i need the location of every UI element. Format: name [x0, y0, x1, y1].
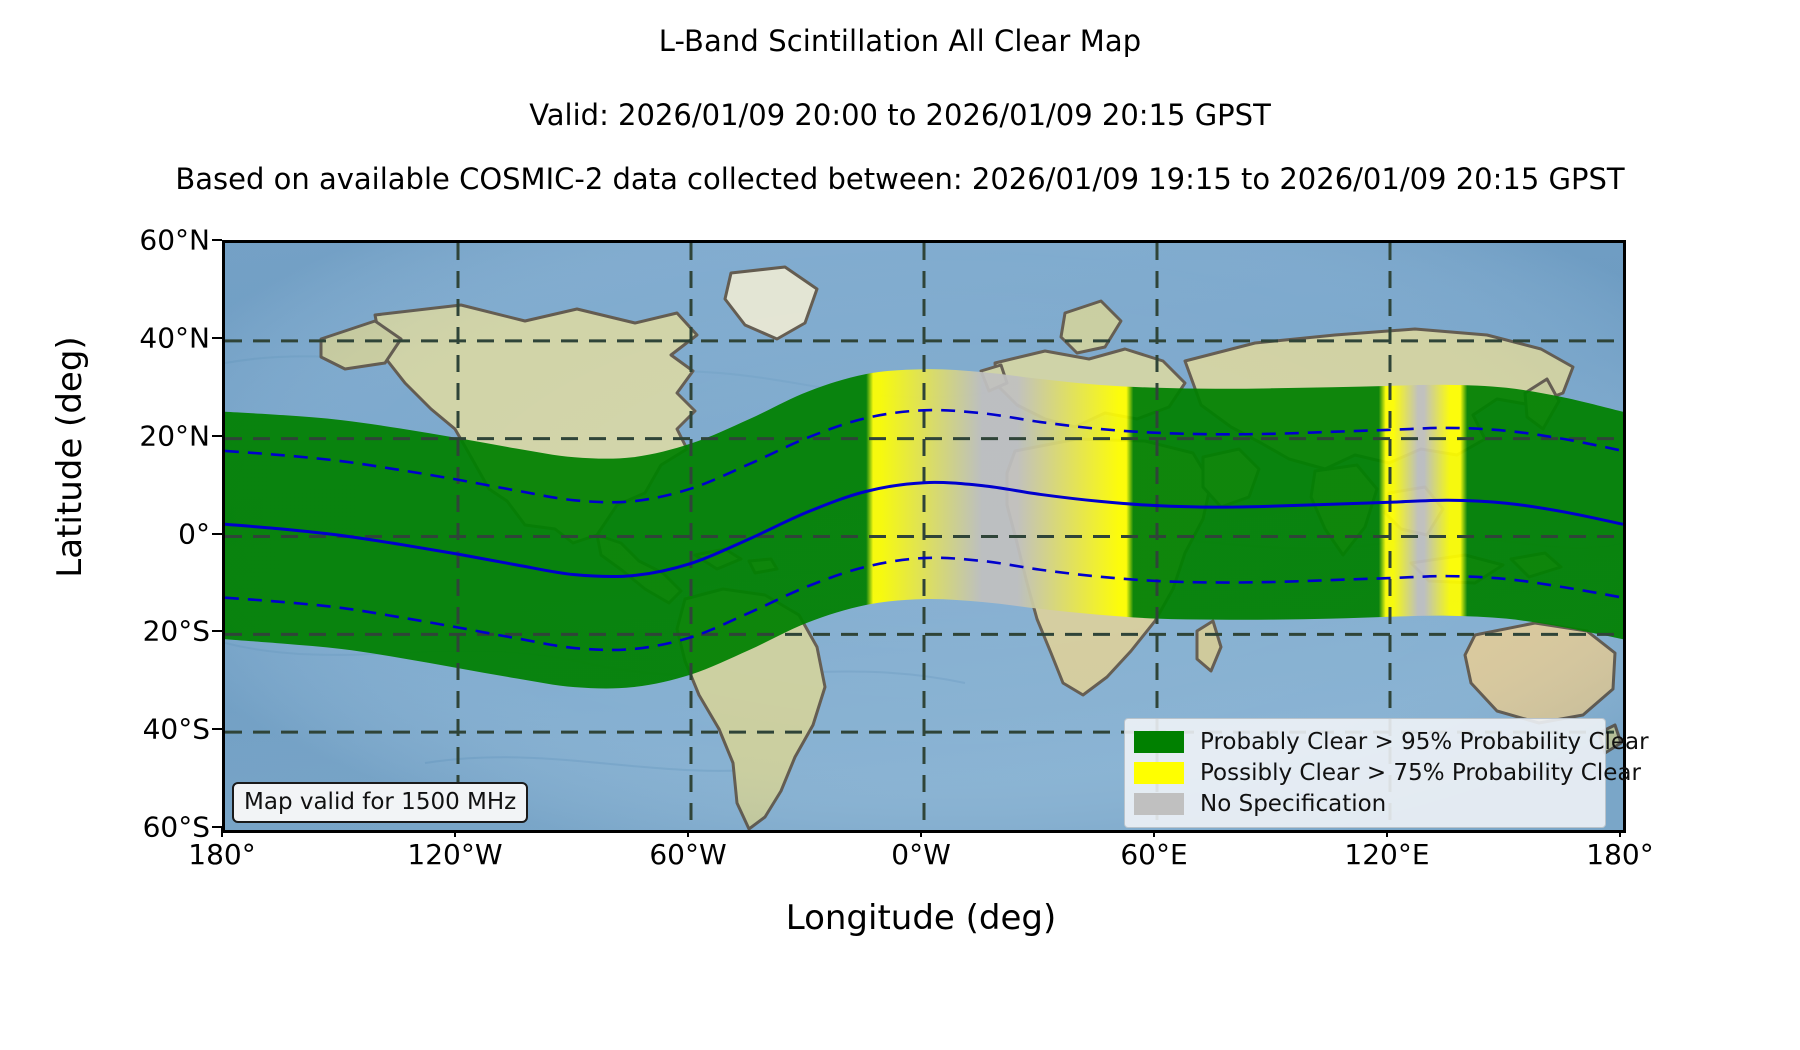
y-tick-label: 40°N — [30, 321, 210, 354]
y-tick-mark — [212, 337, 222, 339]
y-tick-mark — [212, 728, 222, 730]
legend-item-probably-clear: Probably Clear > 95% Probability Clear — [1134, 726, 1596, 757]
northern-crest-line — [225, 410, 1623, 502]
legend-swatch-no-specification — [1134, 793, 1184, 815]
y-tick-mark — [212, 630, 222, 632]
frequency-annotation: Map valid for 1500 MHz — [232, 782, 528, 823]
y-tick-label: 0° — [30, 517, 210, 550]
legend-label-probably-clear: Probably Clear > 95% Probability Clear — [1200, 729, 1649, 755]
x-tick-label: 60°W — [588, 838, 788, 871]
x-tick-label: 0°W — [821, 838, 1021, 871]
legend-item-no-specification: No Specification — [1134, 788, 1596, 819]
x-tick-label: 120°E — [1287, 838, 1487, 871]
legend-label-possibly-clear: Possibly Clear > 75% Probability Clear — [1200, 760, 1641, 786]
valid-period-subtitle: Valid: 2026/01/09 20:00 to 2026/01/09 20… — [0, 98, 1800, 132]
data-source-subtitle: Based on available COSMIC-2 data collect… — [0, 162, 1800, 196]
x-tick-label: 120°W — [355, 838, 555, 871]
southern-crest-line — [225, 558, 1623, 650]
legend-item-possibly-clear: Possibly Clear > 75% Probability Clear — [1134, 757, 1596, 788]
x-tick-label: 180° — [1520, 838, 1720, 871]
y-tick-mark — [212, 239, 222, 241]
legend-label-no-specification: No Specification — [1200, 791, 1386, 817]
y-tick-mark — [212, 435, 222, 437]
legend-swatch-probably-clear — [1134, 731, 1184, 753]
y-tick-label: 60°N — [30, 224, 210, 257]
map-legend: Probably Clear > 95% Probability Clear P… — [1124, 718, 1606, 828]
legend-swatch-possibly-clear — [1134, 762, 1184, 784]
magnetic-equator-line — [225, 482, 1623, 576]
x-tick-label: 180° — [122, 838, 322, 871]
page-title: L-Band Scintillation All Clear Map — [0, 24, 1800, 58]
x-axis-label: Longitude (deg) — [222, 898, 1620, 938]
y-tick-label: 20°N — [30, 419, 210, 452]
y-tick-label: 40°S — [30, 713, 210, 746]
y-axis-label: Latitude (deg) — [50, 237, 90, 677]
x-tick-label: 60°E — [1054, 838, 1254, 871]
y-tick-label: 20°S — [30, 615, 210, 648]
y-tick-mark — [212, 533, 222, 535]
